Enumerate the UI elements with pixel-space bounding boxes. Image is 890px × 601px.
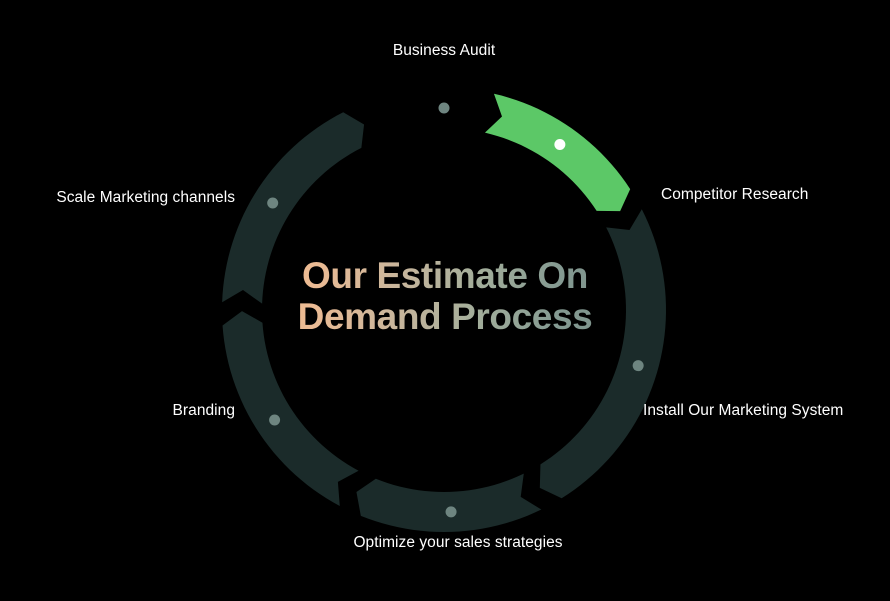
step-dot-optimize-your-sales-strategies[interactable] xyxy=(446,506,457,517)
ring-segments-layer xyxy=(222,94,666,532)
step-label-optimize-your-sales-strategies[interactable]: Optimize your sales strategies xyxy=(353,534,562,552)
step-dot-install-our-marketing-system[interactable] xyxy=(633,360,644,371)
step-dot-competitor-research[interactable] xyxy=(554,139,565,150)
step-dot-scale-marketing-channels[interactable] xyxy=(267,197,278,208)
step-dot-business-audit[interactable] xyxy=(439,103,450,114)
ring-segment-install-our-marketing-system[interactable] xyxy=(540,209,666,498)
ring-segment-branding[interactable] xyxy=(223,311,359,506)
step-label-competitor-research[interactable]: Competitor Research xyxy=(661,186,808,204)
ring-segment-competitor-research[interactable] xyxy=(485,94,630,211)
step-label-install-our-marketing-system[interactable]: Install Our Marketing System xyxy=(643,402,843,420)
step-dot-branding[interactable] xyxy=(269,415,280,426)
step-label-business-audit[interactable]: Business Audit xyxy=(393,42,495,60)
ring-segment-scale-marketing-channels[interactable] xyxy=(222,112,364,303)
step-label-branding[interactable]: Branding xyxy=(173,402,235,420)
ring-segment-optimize-your-sales-strategies[interactable] xyxy=(356,474,541,532)
infographic-canvas: Our Estimate On Demand Process Business … xyxy=(0,0,890,601)
process-ring-diagram xyxy=(0,0,890,601)
step-label-scale-marketing-channels[interactable]: Scale Marketing channels xyxy=(56,189,235,207)
